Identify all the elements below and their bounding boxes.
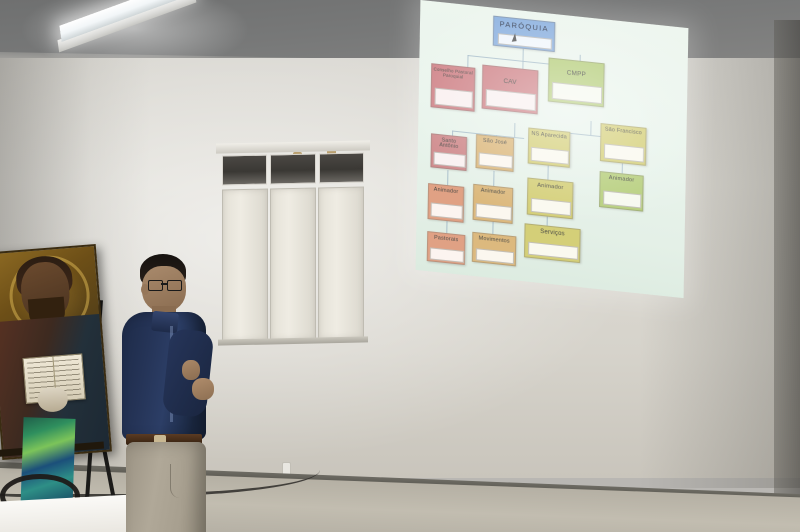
node-label: Serviços (525, 227, 579, 239)
node-label: São Francisco (601, 127, 645, 137)
node-label: Conselho Pastoral Paroquial (432, 67, 474, 81)
glasses-lens-left (148, 280, 163, 291)
node-movimentos[interactable]: Movimentos (472, 232, 517, 267)
presenter-hand-right (192, 378, 214, 400)
window-header-trim (216, 140, 370, 153)
window-shutters[interactable] (222, 187, 364, 342)
node-label: Santo Antônio (432, 137, 466, 151)
node-animador-1[interactable]: Animador (428, 183, 465, 223)
shutter-leaf[interactable] (222, 189, 268, 342)
shutter-leaf[interactable] (318, 187, 364, 340)
projection-screen: PARÓQUIA Conselho Pastoral Paroquial CAV… (416, 0, 689, 298)
node-slot (552, 82, 602, 104)
node-label: PARÓQUIA (494, 20, 554, 34)
node-servicos[interactable]: Serviços (524, 223, 581, 263)
transom-pane (222, 155, 267, 186)
node-label: Animador (528, 182, 572, 193)
node-slot (486, 89, 536, 111)
node-label: Animador (429, 187, 463, 196)
node-slot (497, 33, 552, 49)
window-unit (222, 151, 364, 346)
presenter-hand-left (182, 360, 200, 380)
projection-area: PARÓQUIA Conselho Pastoral Paroquial CAV… (418, 14, 686, 304)
node-slot (531, 147, 568, 165)
edge-paroquia-stem (523, 49, 524, 61)
node-slot (434, 152, 466, 169)
shirt-collar (151, 311, 179, 334)
window-transom (222, 153, 364, 186)
node-paroquia[interactable]: PARÓQUIA (493, 16, 556, 53)
slide-organogram: PARÓQUIA Conselho Pastoral Paroquial CAV… (416, 0, 689, 298)
edge-cav-stem (514, 123, 515, 137)
node-label: Animador (474, 188, 512, 198)
node-slot (603, 190, 642, 208)
node-slot (476, 203, 512, 221)
glasses-lens-right (167, 280, 182, 291)
screenshot-root: PARÓQUIA Conselho Pastoral Paroquial CAV… (0, 0, 800, 532)
transom-pane (270, 154, 315, 185)
node-conselho-pastoral-paroquial[interactable]: Conselho Pastoral Paroquial (431, 63, 476, 112)
wall-corner-right (774, 20, 800, 532)
node-slot (475, 248, 514, 264)
presenter (108, 252, 220, 532)
node-santo-antonio[interactable]: Santo Antônio (430, 133, 467, 171)
node-slot (604, 144, 645, 163)
node-label: Animador (601, 175, 643, 185)
node-animador-3[interactable]: Animador (527, 177, 574, 219)
node-slot (430, 247, 464, 263)
node-label: CMPP (549, 62, 603, 81)
node-animador-2[interactable]: Animador (473, 184, 514, 224)
node-slot (434, 87, 473, 108)
node-label: NS Aparecida (529, 132, 569, 142)
node-pastorais[interactable]: Pastorais (427, 231, 466, 265)
node-label: São José (477, 138, 513, 147)
eyeglasses-icon (148, 280, 182, 290)
node-animador-4[interactable]: Animador (599, 171, 644, 212)
edge-cmpp-stem (590, 121, 591, 135)
mouse-pointer-icon (507, 33, 516, 42)
trouser-pocket (170, 464, 197, 498)
node-slot (530, 198, 571, 217)
node-sao-jose[interactable]: São José (476, 134, 515, 172)
node-slot (528, 242, 578, 261)
node-label: CAV (483, 69, 537, 89)
shutter-leaf[interactable] (270, 188, 316, 341)
node-slot (431, 202, 463, 220)
transom-pane (319, 153, 364, 184)
node-label: Movimentos (473, 236, 515, 246)
node-cmpp[interactable]: CMPP (548, 57, 605, 107)
node-cav[interactable]: CAV (482, 65, 539, 115)
node-ns-aparecida[interactable]: NS Aparecida (528, 127, 571, 167)
node-slot (479, 152, 513, 169)
node-label: Pastorais (428, 235, 464, 244)
node-sao-francisco[interactable]: São Francisco (600, 123, 647, 166)
